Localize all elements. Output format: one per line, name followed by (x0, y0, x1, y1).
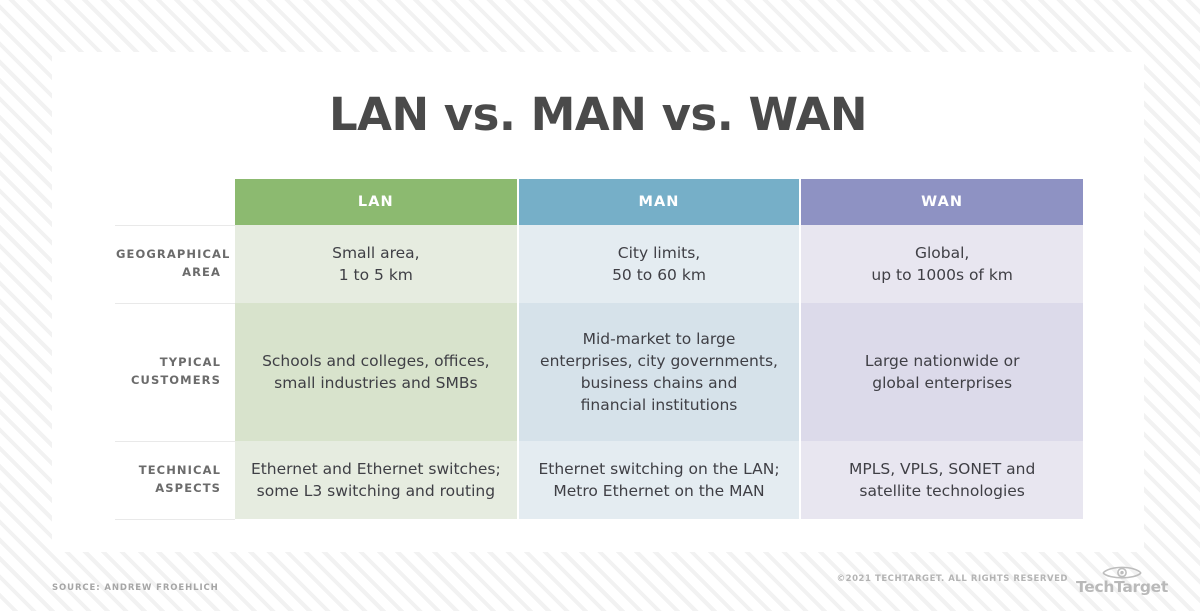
row-label-typical-customers: TYPICAL CUSTOMERS (115, 303, 235, 441)
cell-line1: MPLS, VPLS, SONET and (849, 460, 1035, 478)
cell-technical-aspects-lan: Ethernet and Ethernet switches; some L3 … (235, 441, 518, 519)
cell-line2: satellite technologies (859, 482, 1024, 500)
table-corner-cell (115, 179, 235, 225)
column-header-lan: LAN (235, 179, 518, 225)
row-label-line2: ASPECTS (155, 481, 221, 495)
row-label-line1: TYPICAL (160, 355, 221, 369)
column-header-man: MAN (518, 179, 801, 225)
cell-line1: Ethernet and Ethernet switches; (251, 460, 501, 478)
cell-line1: Large nationwide or (865, 352, 1020, 370)
table-row: TECHNICAL ASPECTS Ethernet and Ethernet … (115, 441, 1083, 519)
cell-line2: enterprises, city governments, (540, 352, 778, 370)
comparison-table-container: LAN MAN WAN GEOGRAPHICAL AREA Small area… (115, 179, 1083, 520)
cell-technical-aspects-man: Ethernet switching on the LAN; Metro Eth… (518, 441, 801, 519)
cell-line1: City limits, (618, 244, 700, 262)
cell-line1: Schools and colleges, offices, (262, 352, 490, 370)
techtarget-logo: TechTarget (1076, 564, 1168, 596)
cell-geographical-area-wan: Global, up to 1000s of km (800, 225, 1083, 303)
table-header-row: LAN MAN WAN (115, 179, 1083, 225)
table-body: GEOGRAPHICAL AREA Small area, 1 to 5 km … (115, 225, 1083, 519)
cell-geographical-area-lan: Small area, 1 to 5 km (235, 225, 518, 303)
row-label-line1: TECHNICAL (139, 463, 221, 477)
cell-line2: small industries and SMBs (274, 374, 477, 392)
footer-branding: ©2021 TECHTARGET. ALL RIGHTS RESERVED Te… (837, 564, 1168, 596)
cell-line2: 50 to 60 km (612, 266, 706, 284)
column-header-wan: WAN (800, 179, 1083, 225)
cell-line2: up to 1000s of km (871, 266, 1012, 284)
row-label-line2: AREA (182, 265, 221, 279)
cell-line3: business chains and (581, 374, 738, 392)
table-header: LAN MAN WAN (115, 179, 1083, 225)
content-card: LAN vs. MAN vs. WAN LAN MAN WAN (52, 52, 1144, 552)
cell-geographical-area-man: City limits, 50 to 60 km (518, 225, 801, 303)
cell-typical-customers-wan: Large nationwide or global enterprises (800, 303, 1083, 441)
cell-typical-customers-man: Mid-market to large enterprises, city go… (518, 303, 801, 441)
cell-line2: global enterprises (872, 374, 1012, 392)
cell-line2: Metro Ethernet on the MAN (553, 482, 764, 500)
cell-line1: Mid-market to large (583, 330, 736, 348)
table-row: GEOGRAPHICAL AREA Small area, 1 to 5 km … (115, 225, 1083, 303)
row-label-geographical-area: GEOGRAPHICAL AREA (115, 225, 235, 303)
cell-line1: Global, (915, 244, 969, 262)
cell-line1: Small area, (332, 244, 419, 262)
page-title: LAN vs. MAN vs. WAN (52, 52, 1144, 137)
eye-icon (1101, 564, 1143, 579)
table-row: TYPICAL CUSTOMERS Schools and colleges, … (115, 303, 1083, 441)
cell-line4: financial institutions (581, 396, 738, 414)
comparison-table: LAN MAN WAN GEOGRAPHICAL AREA Small area… (115, 179, 1083, 520)
cell-line1: Ethernet switching on the LAN; (538, 460, 779, 478)
row-label-line2: CUSTOMERS (131, 373, 221, 387)
cell-technical-aspects-wan: MPLS, VPLS, SONET and satellite technolo… (800, 441, 1083, 519)
copyright-notice: ©2021 TECHTARGET. ALL RIGHTS RESERVED (837, 574, 1068, 586)
cell-typical-customers-lan: Schools and colleges, offices, small ind… (235, 303, 518, 441)
row-label-line1: GEOGRAPHICAL (116, 247, 230, 261)
techtarget-wordmark: TechTarget (1076, 580, 1168, 596)
source-credit: SOURCE: ANDREW FROEHLICH (52, 583, 219, 593)
row-label-technical-aspects: TECHNICAL ASPECTS (115, 441, 235, 519)
cell-line2: 1 to 5 km (339, 266, 413, 284)
cell-line2: some L3 switching and routing (257, 482, 495, 500)
